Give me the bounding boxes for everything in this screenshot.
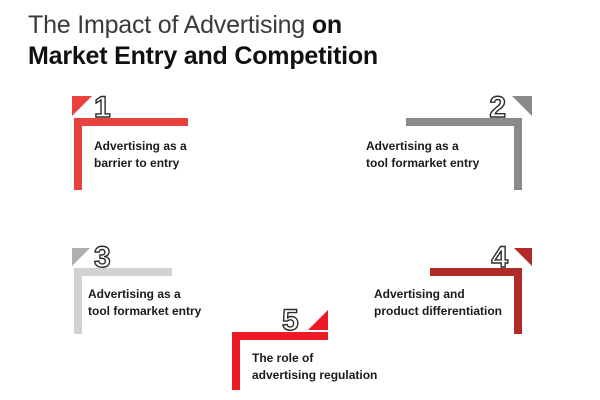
infographic-canvas: The Impact of Advertising on Market Entr… [0, 0, 600, 400]
bracket-horizontal-bar [430, 268, 522, 276]
bracket-vertical-bar [74, 268, 82, 334]
triangle-accent-icon [514, 248, 532, 266]
triangle-accent-icon [72, 248, 90, 266]
step-number-1: 1 [94, 93, 111, 123]
step-caption-3-line-2: tool formarket entry [88, 303, 201, 320]
step-caption-5: The role of advertising regulation [252, 350, 377, 385]
step-caption-5-line-1: The role of [252, 350, 377, 367]
triangle-accent-icon [308, 310, 328, 330]
step-number-4: 4 [491, 243, 508, 273]
step-caption-2: Advertising as a tool formarket entry [366, 138, 479, 173]
step-caption-1-line-1: Advertising as a [94, 138, 187, 155]
title-line-2: Market Entry and Competition [28, 41, 568, 72]
step-caption-4: Advertising and product differentiation [374, 286, 502, 321]
step-caption-3-line-1: Advertising as a [88, 286, 201, 303]
step-number-3: 3 [94, 243, 111, 273]
step-item-1: 1 Advertising as a barrier to entry [74, 118, 204, 220]
step-item-3: 3 Advertising as a tool formarket entry [74, 268, 194, 364]
step-caption-1: Advertising as a barrier to entry [94, 138, 187, 173]
step-item-5: 5 The role of advertising regulation [232, 332, 342, 394]
step-caption-4-line-2: product differentiation [374, 303, 502, 320]
bracket-horizontal-bar [74, 118, 188, 126]
step-caption-1-line-2: barrier to entry [94, 155, 187, 172]
page-title: The Impact of Advertising on Market Entr… [28, 10, 568, 71]
title-line-1: The Impact of Advertising on [28, 10, 568, 41]
triangle-accent-icon [72, 96, 92, 116]
step-caption-2-line-1: Advertising as a [366, 138, 479, 155]
bracket-vertical-bar [514, 118, 522, 190]
step-caption-3: Advertising as a tool formarket entry [88, 286, 201, 321]
step-item-4: 4 Advertising and product differentiatio… [430, 268, 530, 364]
bracket-vertical-bar [74, 118, 82, 190]
bracket-horizontal-bar [232, 332, 328, 340]
triangle-accent-icon [512, 96, 532, 116]
title-line-1-light: The Impact of Advertising [28, 11, 312, 39]
step-caption-5-line-2: advertising regulation [252, 367, 377, 384]
title-line-1-bold: on [312, 11, 342, 39]
step-caption-4-line-1: Advertising and [374, 286, 502, 303]
bracket-vertical-bar [514, 268, 522, 334]
step-caption-2-line-2: tool formarket entry [366, 155, 479, 172]
step-number-5: 5 [282, 306, 299, 336]
step-item-2: 2 Advertising as a tool formarket entry [406, 118, 530, 220]
bracket-horizontal-bar [74, 268, 172, 276]
step-number-2: 2 [489, 93, 506, 123]
bracket-vertical-bar [232, 332, 240, 390]
